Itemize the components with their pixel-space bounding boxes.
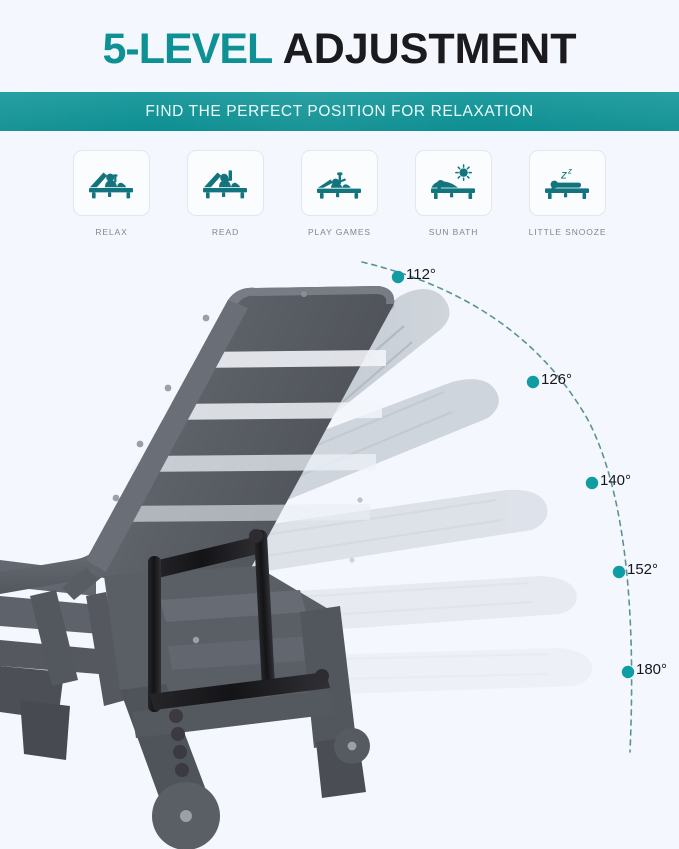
infographic-page: 5-LEVEL ADJUSTMENT FIND THE PERFECT POSI… [0, 0, 679, 849]
subtitle-text: FIND THE PERFECT POSITION FOR RELAXATION [145, 103, 533, 121]
subtitle-band: FIND THE PERFECT POSITION FOR RELAXATION [0, 92, 679, 131]
mode-label: RELAX [95, 227, 127, 237]
page-title-rest: ADJUSTMENT [272, 25, 576, 73]
angle-label-112: 112° [406, 266, 436, 283]
mode-icon-box-sun-bath [415, 150, 492, 216]
mode-label: READ [212, 227, 239, 237]
usage-modes-row: RELAX [0, 150, 679, 237]
angle-dot-140 [586, 477, 598, 489]
chair-backrest-main [86, 286, 394, 580]
angle-dot-152 [613, 566, 625, 578]
mode-item-play-games: PLAY GAMES [301, 150, 378, 237]
chair-seat-frame [0, 528, 176, 760]
angle-label-152: 152° [627, 561, 658, 578]
mode-label: LITTLE SNOOZE [529, 227, 607, 237]
ghost-backrest-126 [176, 379, 499, 530]
mode-icon-box-read [187, 150, 264, 216]
person-playing-handheld-game-icon [314, 166, 366, 200]
ghost-backrest-180 [140, 648, 592, 700]
person-sunbathing-with-sun-icon [428, 164, 480, 202]
ghost-backrest-112 [196, 289, 450, 492]
person-reclining-on-lounger-icon [86, 166, 138, 200]
person-reading-book-on-lounger-icon [200, 166, 252, 200]
page-title-accent: 5-LEVEL [102, 25, 272, 73]
mode-icon-box-play-games [301, 150, 378, 216]
angle-label-126: 126° [541, 371, 572, 388]
ghost-backrest-152 [150, 576, 577, 640]
mode-icon-box-relax [73, 150, 150, 216]
angle-dot-112 [392, 271, 404, 283]
angle-dot-126 [527, 376, 539, 388]
mode-item-sun-bath: SUN BATH [415, 150, 492, 237]
recline-support-bar [148, 529, 330, 777]
chair-seat-body [104, 566, 340, 724]
mode-label: SUN BATH [429, 227, 479, 237]
mode-item-relax: RELAX [73, 150, 150, 237]
ghost-backrest-140 [160, 490, 547, 582]
recline-angle-arc [362, 262, 632, 752]
svg-text:z: z [560, 168, 567, 182]
person-sleeping-zzz-icon: z z [542, 164, 594, 202]
svg-text:z: z [567, 167, 572, 176]
mode-label: PLAY GAMES [308, 227, 371, 237]
page-title: 5-LEVEL ADJUSTMENT [0, 26, 679, 72]
mode-icon-box-little-snooze: z z [529, 150, 606, 216]
mode-item-read: READ [187, 150, 264, 237]
angle-label-180: 180° [636, 661, 667, 678]
chair-rear-leg-and-wheel [120, 606, 370, 849]
angle-label-140: 140° [600, 472, 631, 489]
mode-item-little-snooze: z z LITTLE SNOOZE [529, 150, 606, 237]
angle-dot-180 [622, 666, 634, 678]
